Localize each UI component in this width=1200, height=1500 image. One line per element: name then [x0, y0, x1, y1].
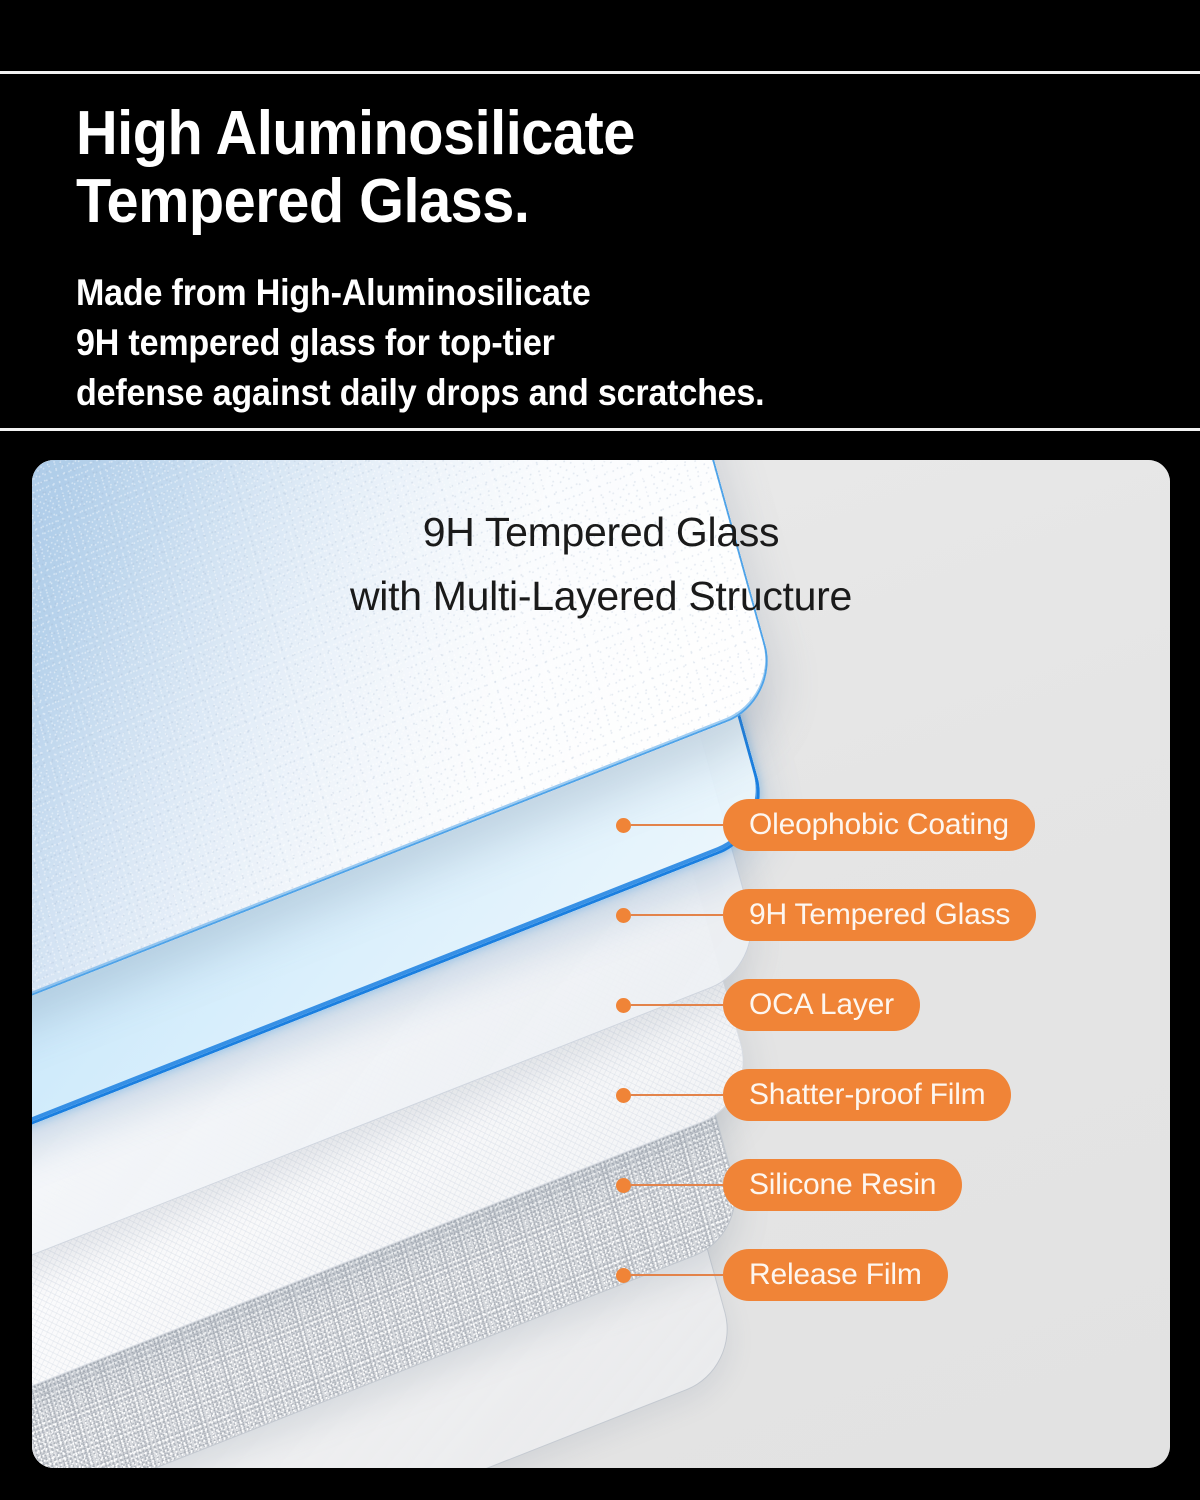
- callout-oleophobic-coating[interactable]: Oleophobic Coating: [616, 799, 1035, 851]
- callout-label: Silicone Resin: [723, 1159, 962, 1211]
- headline-line-2: Tempered Glass.: [76, 168, 1025, 236]
- callout-dot-icon: [616, 1088, 631, 1103]
- callout-label: Shatter-proof Film: [723, 1069, 1011, 1121]
- callout-9h-tempered-glass[interactable]: 9H Tempered Glass: [616, 889, 1036, 941]
- bottom-black-strip: [0, 1468, 1200, 1500]
- callout-dot-icon: [616, 818, 631, 833]
- callout-oca-layer[interactable]: OCA Layer: [616, 979, 920, 1031]
- callout-leader-line: [631, 914, 723, 916]
- top-divider-rule: [0, 71, 1200, 74]
- callout-group: Oleophobic Coating 9H Tempered Glass OCA…: [32, 460, 1170, 1468]
- subtitle-text: Made from High-Aluminosilicate 9H temper…: [76, 268, 1014, 418]
- callout-shatter-proof-film[interactable]: Shatter-proof Film: [616, 1069, 1011, 1121]
- callout-dot-icon: [616, 1178, 631, 1193]
- callout-leader-line: [631, 1094, 723, 1096]
- callout-label: 9H Tempered Glass: [723, 889, 1036, 941]
- diagram-card: 9H Tempered Glass with Multi-Layered Str…: [32, 460, 1170, 1468]
- callout-label: OCA Layer: [723, 979, 920, 1031]
- subtitle-line-3: defense against daily drops and scratche…: [76, 368, 1014, 418]
- callout-leader-line: [631, 824, 723, 826]
- callout-silicone-resin[interactable]: Silicone Resin: [616, 1159, 962, 1211]
- page-title: High Aluminosilicate Tempered Glass.: [76, 100, 1025, 236]
- callout-leader-line: [631, 1184, 723, 1186]
- callout-label: Oleophobic Coating: [723, 799, 1035, 851]
- headline-line-1: High Aluminosilicate: [76, 100, 1025, 168]
- callout-label: Release Film: [723, 1249, 948, 1301]
- callout-dot-icon: [616, 998, 631, 1013]
- callout-release-film[interactable]: Release Film: [616, 1249, 948, 1301]
- callout-leader-line: [631, 1004, 723, 1006]
- header-band: High Aluminosilicate Tempered Glass. Mad…: [0, 0, 1200, 430]
- callout-dot-icon: [616, 1268, 631, 1283]
- header-bottom-divider: [0, 428, 1200, 431]
- subtitle-line-2: 9H tempered glass for top-tier: [76, 318, 1014, 368]
- callout-leader-line: [631, 1274, 723, 1276]
- subtitle-line-1: Made from High-Aluminosilicate: [76, 268, 1014, 318]
- callout-dot-icon: [616, 908, 631, 923]
